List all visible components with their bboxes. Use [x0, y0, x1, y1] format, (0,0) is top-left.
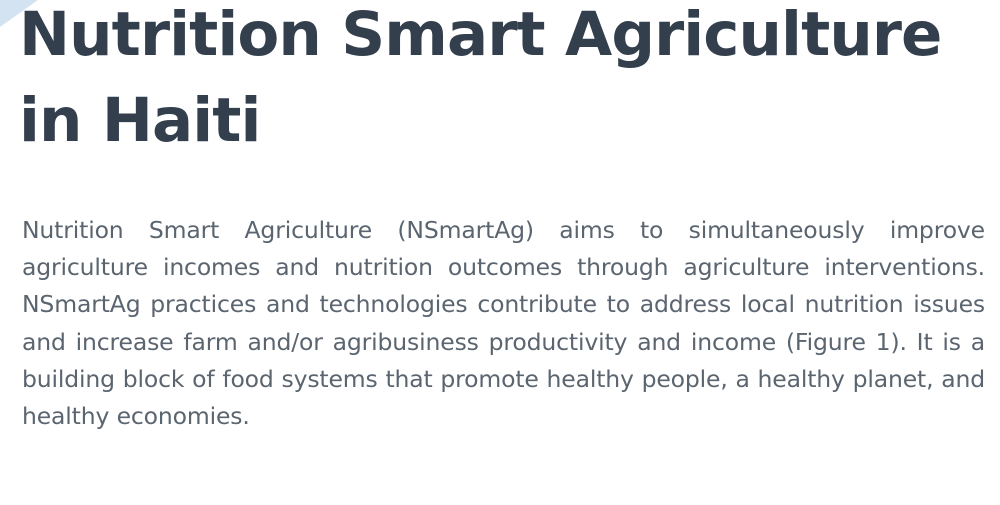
page-title: Nutrition Smart Agriculture in Haiti	[19, 0, 979, 164]
intro-paragraph: Nutrition Smart Agriculture (NSmartAg) a…	[22, 212, 985, 435]
page-root: Nutrition Smart Agriculture in Haiti Nut…	[0, 0, 1000, 505]
